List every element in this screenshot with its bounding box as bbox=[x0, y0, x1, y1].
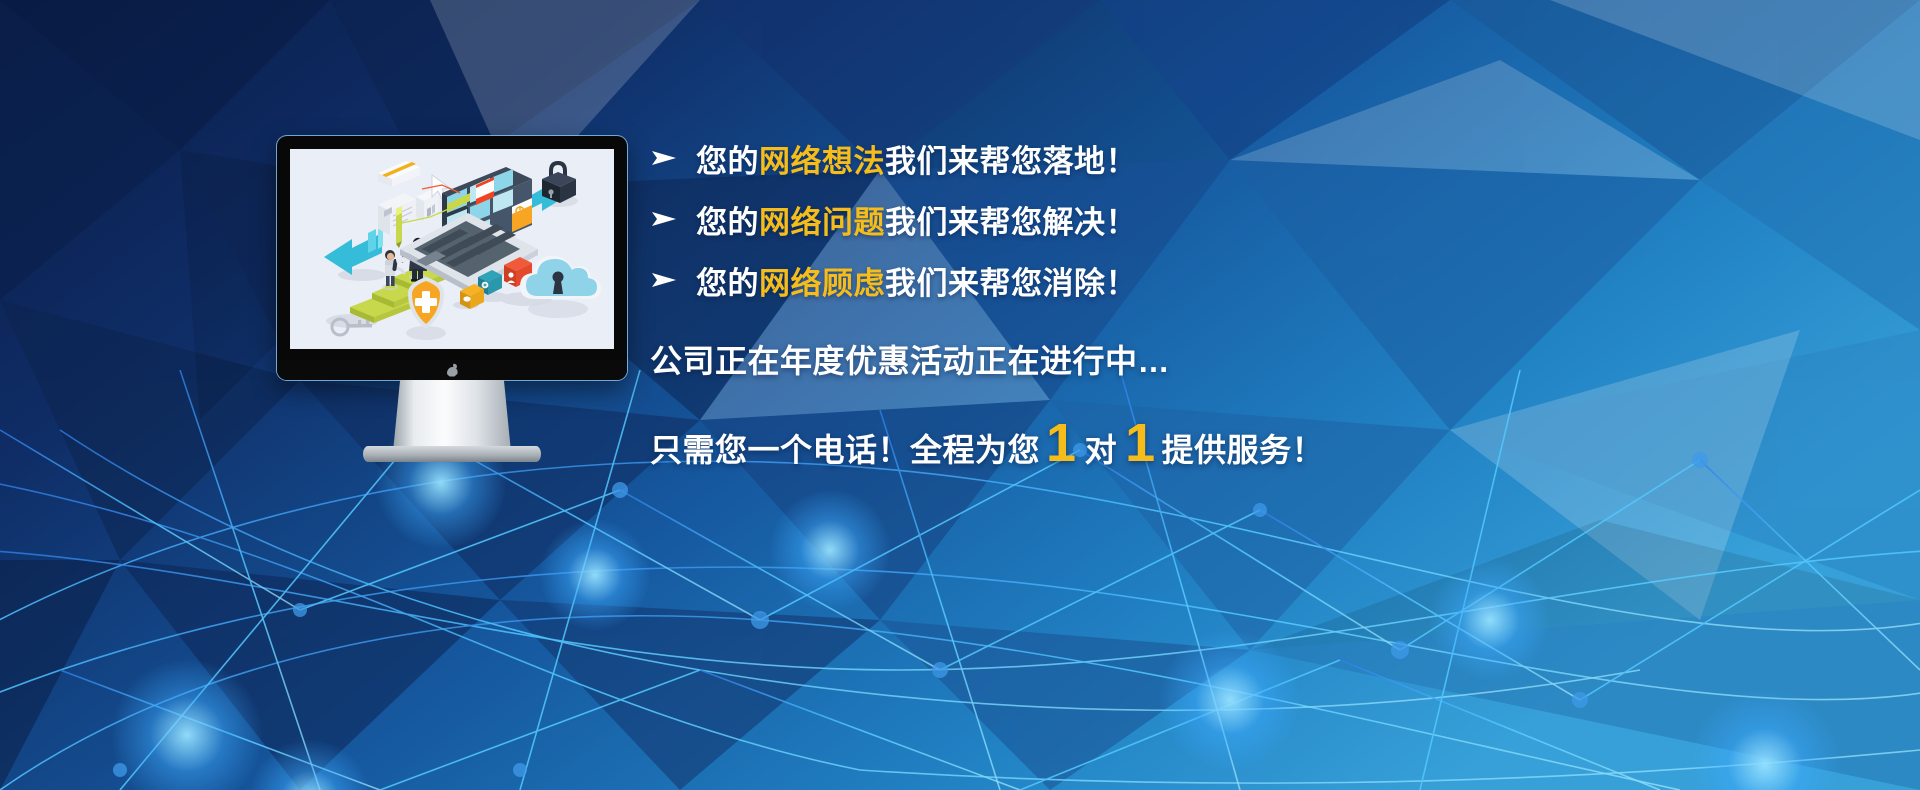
promo-text: 公司正在年度优惠活动正在进行中… bbox=[650, 336, 1800, 382]
monitor-screen bbox=[290, 149, 614, 349]
bullet-highlight: 网络顾虑 bbox=[759, 266, 885, 301]
bullet-text: 您的网络顾虑我们来帮您消除！ bbox=[696, 258, 1137, 303]
bullet-prefix: 您的 bbox=[696, 205, 759, 240]
cta-text: 只需您一个电话！全程为您 1 对 1 提供服务！ bbox=[650, 416, 1800, 471]
cta-lead: 只需您一个电话！全程为您 bbox=[650, 425, 1040, 471]
bullet-suffix: 我们来帮您消除！ bbox=[885, 266, 1137, 301]
hero-banner: 您的网络想法我们来帮您落地！ 您的网络问题我们来帮您解决！ 您的网络顾虑我们来帮… bbox=[0, 0, 1920, 790]
monitor-chin bbox=[277, 360, 627, 380]
imac-monitor-graphic bbox=[277, 136, 627, 446]
bullet-row: 您的网络顾虑我们来帮您消除！ bbox=[650, 250, 1800, 310]
arrow-right-icon bbox=[650, 270, 696, 290]
bullet-highlight: 网络问题 bbox=[759, 205, 885, 240]
marketing-copy-block: 您的网络想法我们来帮您落地！ 您的网络问题我们来帮您解决！ 您的网络顾虑我们来帮… bbox=[650, 128, 1800, 471]
isometric-illustration bbox=[290, 149, 614, 349]
arrow-right-icon bbox=[650, 148, 696, 168]
bullet-prefix: 您的 bbox=[696, 144, 759, 179]
cta-number-second: 1 bbox=[1119, 416, 1162, 470]
apple-logo-icon bbox=[447, 364, 458, 377]
pencil-icon bbox=[396, 206, 402, 248]
bullet-row: 您的网络问题我们来帮您解决！ bbox=[650, 189, 1800, 249]
bullet-text: 您的网络问题我们来帮您解决！ bbox=[696, 197, 1137, 242]
shield-plus-icon bbox=[406, 277, 446, 340]
bullet-suffix: 我们来帮您落地！ bbox=[885, 144, 1137, 179]
bullet-highlight: 网络想法 bbox=[759, 144, 885, 179]
monitor-stand-base bbox=[363, 446, 541, 462]
arrow-right-icon bbox=[650, 209, 696, 229]
bullet-row: 您的网络想法我们来帮您落地！ bbox=[650, 128, 1800, 188]
cta-middle: 对 bbox=[1083, 425, 1120, 471]
cta-tail: 提供服务！ bbox=[1162, 425, 1325, 471]
bullet-prefix: 您的 bbox=[696, 266, 759, 301]
cta-number-first: 1 bbox=[1040, 416, 1083, 470]
monitor-bezel bbox=[277, 136, 627, 380]
bullet-text: 您的网络想法我们来帮您落地！ bbox=[696, 136, 1137, 181]
bullet-suffix: 我们来帮您解决！ bbox=[885, 205, 1137, 240]
monitor-stand-neck bbox=[393, 380, 511, 452]
